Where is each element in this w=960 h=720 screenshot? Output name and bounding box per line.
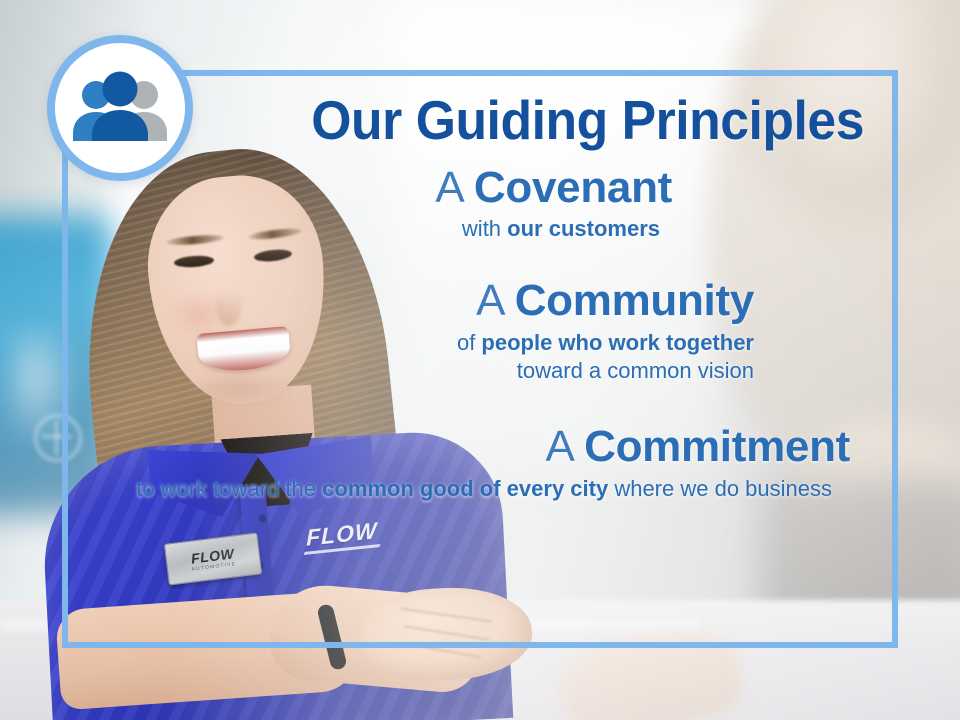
principle-covenant-sub-plain: with [462,216,507,241]
page-title: Our Guiding Principles [142,92,864,150]
principle-community: A Community of people who work together … [96,277,864,385]
principle-covenant-sub-bold: our customers [507,216,660,241]
principle-community-subtext: of people who work together toward a com… [96,329,754,385]
principle-covenant: A Covenant with our customers [96,164,864,244]
principle-community-sub-bold: people who work together [481,330,754,355]
principle-covenant-article: A [435,163,474,212]
principle-commitment-article: A [546,422,585,471]
principle-covenant-term: Covenant [474,163,672,212]
principle-commitment-sub-plain: to work toward the [136,476,322,501]
principle-commitment-term: Commitment [584,422,850,471]
principle-commitment-heading: A Commitment [96,423,850,471]
principle-commitment-subtext: to work toward the common good of every … [96,475,850,503]
principle-commitment: A Commitment to work toward the common g… [96,423,864,503]
principle-commitment-sub-tail: where we do business [608,476,832,501]
principle-covenant-subtext: with our customers [96,215,672,243]
text-content: Our Guiding Principles A Covenant with o… [62,70,898,648]
principle-community-term: Community [515,276,754,325]
principle-covenant-heading: A Covenant [96,164,672,212]
principle-community-sub-line2: toward a common vision [517,358,754,383]
guiding-principles-graphic: FLOW FLOW AUTOMOTIVE [0,0,960,720]
principle-commitment-sub-bold: common good of every city [322,476,608,501]
principle-community-article: A [476,276,515,325]
principle-community-sub-plain: of [457,330,481,355]
principle-community-heading: A Community [96,277,754,325]
